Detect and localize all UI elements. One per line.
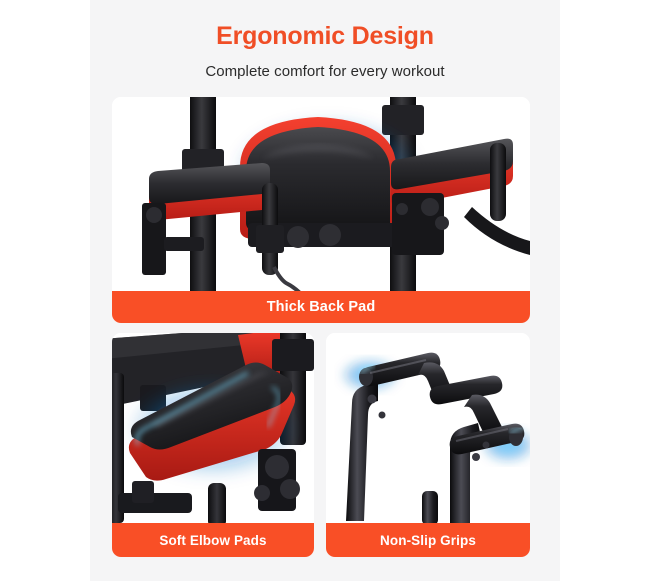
page-header: Ergonomic Design Complete comfort for ev… [90, 0, 560, 80]
product-feature-page: Ergonomic Design Complete comfort for ev… [0, 0, 650, 581]
feature-card-non-slip-grips[interactable]: Non-Slip Grips [326, 333, 530, 557]
back-pad-illustration [112, 97, 530, 291]
product-image-thick-back-pad [112, 97, 530, 291]
product-image-non-slip-grips [326, 333, 530, 523]
page-subtitle: Complete comfort for every workout [90, 63, 560, 80]
feature-card-soft-elbow-pads[interactable]: Soft Elbow Pads [112, 333, 314, 557]
feature-caption-thick-back-pad: Thick Back Pad [112, 291, 530, 323]
elbow-pad-illustration [112, 333, 314, 523]
content-panel: Ergonomic Design Complete comfort for ev… [90, 0, 560, 581]
page-title: Ergonomic Design [90, 22, 560, 51]
feature-caption-non-slip-grips: Non-Slip Grips [326, 523, 530, 557]
grip-bar-illustration [326, 333, 530, 523]
product-image-soft-elbow-pads [112, 333, 314, 523]
feature-caption-soft-elbow-pads: Soft Elbow Pads [112, 523, 314, 557]
feature-card-thick-back-pad[interactable]: Thick Back Pad [112, 97, 530, 323]
